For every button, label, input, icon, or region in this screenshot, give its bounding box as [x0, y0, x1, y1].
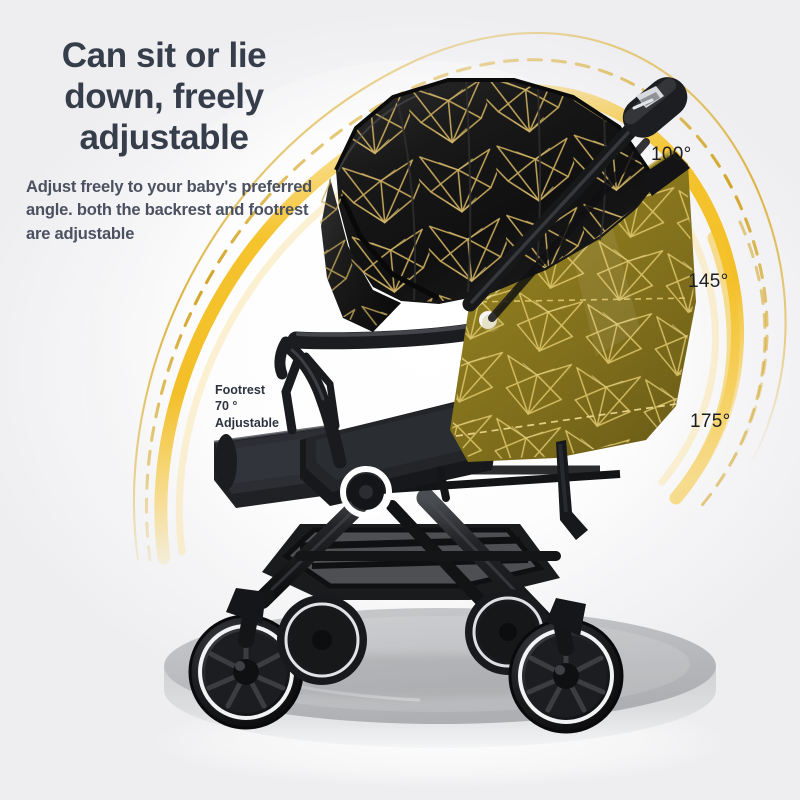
angle-label-145: 145° [688, 271, 729, 293]
footrest-adjustable: Adjustable [215, 415, 325, 431]
footrest-angle: 70 ° [215, 398, 325, 414]
footrest-label: Footrest [215, 382, 325, 398]
angle-label-175: 175° [690, 411, 731, 433]
subtitle: Adjust freely to your baby's preferred a… [26, 176, 321, 246]
pivot-ring-icon [343, 469, 389, 515]
page-title: Can sit or lie down, freely adjustable [30, 36, 298, 159]
footrest-annotation: Footrest 70 ° Adjustable [215, 382, 325, 431]
product-feature-panel: Can sit or lie down, freely adjustable A… [0, 0, 800, 800]
wheel-rear-left [277, 595, 367, 685]
angle-label-100: 100° [651, 144, 692, 166]
